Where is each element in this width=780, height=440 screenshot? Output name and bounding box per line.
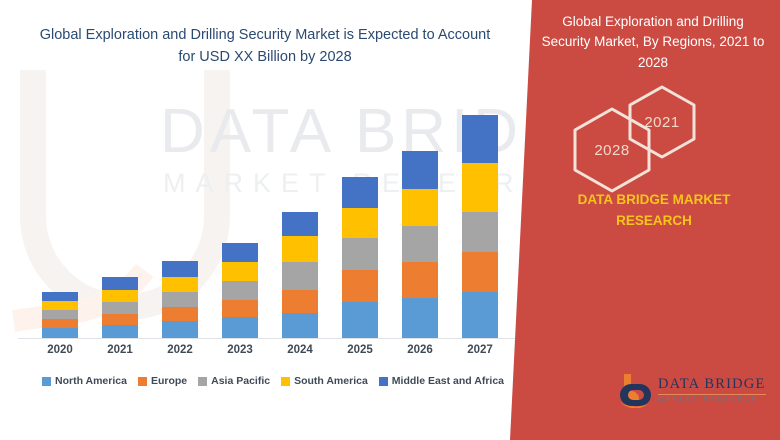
hexagon-2028-label: 2028 bbox=[594, 142, 629, 159]
legend-item[interactable]: Asia Pacific bbox=[198, 375, 270, 387]
x-axis-tick: 2025 bbox=[330, 344, 390, 356]
bar-segment[interactable] bbox=[282, 212, 318, 236]
bar-slot bbox=[330, 88, 390, 338]
logo-divider bbox=[658, 394, 766, 395]
bar-segment[interactable] bbox=[462, 292, 498, 338]
bar-segment[interactable] bbox=[42, 301, 78, 310]
data-bridge-logo: DATA BRIDGE MARKET RESEARCH bbox=[618, 372, 766, 408]
bar-segment[interactable] bbox=[342, 177, 378, 208]
legend-label: Asia Pacific bbox=[211, 375, 270, 387]
hexagon-2021: 2021 bbox=[626, 84, 698, 160]
legend-item[interactable]: Europe bbox=[138, 375, 187, 387]
bar-segment[interactable] bbox=[102, 325, 138, 338]
bar-segment[interactable] bbox=[282, 236, 318, 262]
bar-segment[interactable] bbox=[402, 189, 438, 226]
bar-segment[interactable] bbox=[162, 277, 198, 292]
bar-segment[interactable] bbox=[102, 302, 138, 314]
bar-segment[interactable] bbox=[42, 310, 78, 319]
brand-callout-line1: DATA BRIDGE MARKET bbox=[578, 192, 731, 207]
logo-b-icon bbox=[618, 372, 652, 408]
x-axis-tick: 2020 bbox=[30, 344, 90, 356]
x-axis-tick: 2024 bbox=[270, 344, 330, 356]
stacked-bar[interactable] bbox=[42, 292, 78, 338]
legend-item[interactable]: South America bbox=[281, 375, 368, 387]
bar-segment[interactable] bbox=[462, 115, 498, 163]
bar-slot bbox=[210, 88, 270, 338]
bar-segment[interactable] bbox=[342, 270, 378, 302]
x-axis-tick: 2021 bbox=[90, 344, 150, 356]
x-axis-tick: 2023 bbox=[210, 344, 270, 356]
legend-swatch bbox=[198, 377, 207, 386]
bar-segment[interactable] bbox=[402, 298, 438, 338]
logo-text: DATA BRIDGE MARKET RESEARCH bbox=[658, 377, 766, 403]
bar-segment[interactable] bbox=[282, 313, 318, 338]
stacked-bar[interactable] bbox=[222, 243, 258, 338]
infographic-page: DATA BRIDGE MARKET RESEARCH Global Explo… bbox=[0, 0, 780, 440]
bar-segment[interactable] bbox=[42, 328, 78, 338]
stacked-bar[interactable] bbox=[162, 261, 198, 338]
bar-slot bbox=[90, 88, 150, 338]
bar-segment[interactable] bbox=[342, 208, 378, 238]
bar-segment[interactable] bbox=[222, 317, 258, 338]
legend-swatch bbox=[281, 377, 290, 386]
bar-slot bbox=[30, 88, 90, 338]
bar-segment[interactable] bbox=[282, 262, 318, 290]
stacked-bar[interactable] bbox=[282, 212, 318, 338]
bar-segment[interactable] bbox=[102, 314, 138, 325]
stacked-bar[interactable] bbox=[402, 151, 438, 338]
bar-segment[interactable] bbox=[162, 261, 198, 277]
chart-panel: Global Exploration and Drilling Security… bbox=[0, 0, 540, 440]
legend-label: Europe bbox=[151, 375, 187, 387]
bar-segment[interactable] bbox=[462, 212, 498, 252]
hexagon-2021-label: 2021 bbox=[644, 114, 679, 131]
bar-segment[interactable] bbox=[162, 321, 198, 338]
legend-swatch bbox=[42, 377, 51, 386]
bar-slot bbox=[450, 88, 510, 338]
brand-callout-line2: RESEARCH bbox=[616, 213, 692, 228]
bar-segment[interactable] bbox=[462, 252, 498, 292]
legend-label: North America bbox=[55, 375, 127, 387]
bar-segment[interactable] bbox=[162, 307, 198, 321]
bar-segment[interactable] bbox=[222, 262, 258, 281]
legend-swatch bbox=[138, 377, 147, 386]
stacked-bar[interactable] bbox=[462, 115, 498, 338]
bar-slot bbox=[390, 88, 450, 338]
bar-segment[interactable] bbox=[102, 290, 138, 302]
logo-tagline: MARKET RESEARCH bbox=[658, 397, 766, 403]
stacked-bar[interactable] bbox=[342, 177, 378, 338]
bar-segment[interactable] bbox=[222, 300, 258, 317]
bar-segment[interactable] bbox=[222, 281, 258, 300]
bar-segment[interactable] bbox=[402, 226, 438, 262]
bar-segment[interactable] bbox=[42, 319, 78, 328]
legend-item[interactable]: Middle East and Africa bbox=[379, 375, 504, 387]
right-panel-title: Global Exploration and Drilling Security… bbox=[538, 12, 768, 73]
logo-name: DATA BRIDGE bbox=[658, 377, 766, 392]
legend-swatch bbox=[379, 377, 388, 386]
legend-label: South America bbox=[294, 375, 368, 387]
x-axis-tick: 2026 bbox=[390, 344, 450, 356]
bar-segment[interactable] bbox=[102, 277, 138, 290]
bar-segment[interactable] bbox=[222, 243, 258, 262]
stacked-bar[interactable] bbox=[102, 277, 138, 338]
bar-slot bbox=[150, 88, 210, 338]
bar-group bbox=[30, 88, 510, 338]
bar-segment[interactable] bbox=[462, 163, 498, 212]
x-axis-tick: 2022 bbox=[150, 344, 210, 356]
bar-segment[interactable] bbox=[342, 238, 378, 270]
bar-slot bbox=[270, 88, 330, 338]
legend-item[interactable]: North America bbox=[42, 375, 127, 387]
chart-plot-area bbox=[0, 0, 540, 338]
x-axis-tick: 2027 bbox=[450, 344, 510, 356]
bar-segment[interactable] bbox=[402, 151, 438, 189]
chart-legend: North AmericaEuropeAsia PacificSouth Ame… bbox=[18, 375, 528, 387]
hexagon-group: 2028 2021 bbox=[570, 84, 770, 194]
bar-segment[interactable] bbox=[342, 302, 378, 338]
brand-callout: DATA BRIDGE MARKET RESEARCH bbox=[540, 190, 768, 232]
bar-segment[interactable] bbox=[42, 292, 78, 301]
axis-baseline bbox=[18, 338, 518, 339]
legend-label: Middle East and Africa bbox=[392, 375, 504, 387]
bar-segment[interactable] bbox=[162, 292, 198, 307]
x-axis-labels: 20202021202220232024202520262027 bbox=[30, 344, 510, 356]
bar-segment[interactable] bbox=[282, 290, 318, 313]
bar-segment[interactable] bbox=[402, 262, 438, 298]
